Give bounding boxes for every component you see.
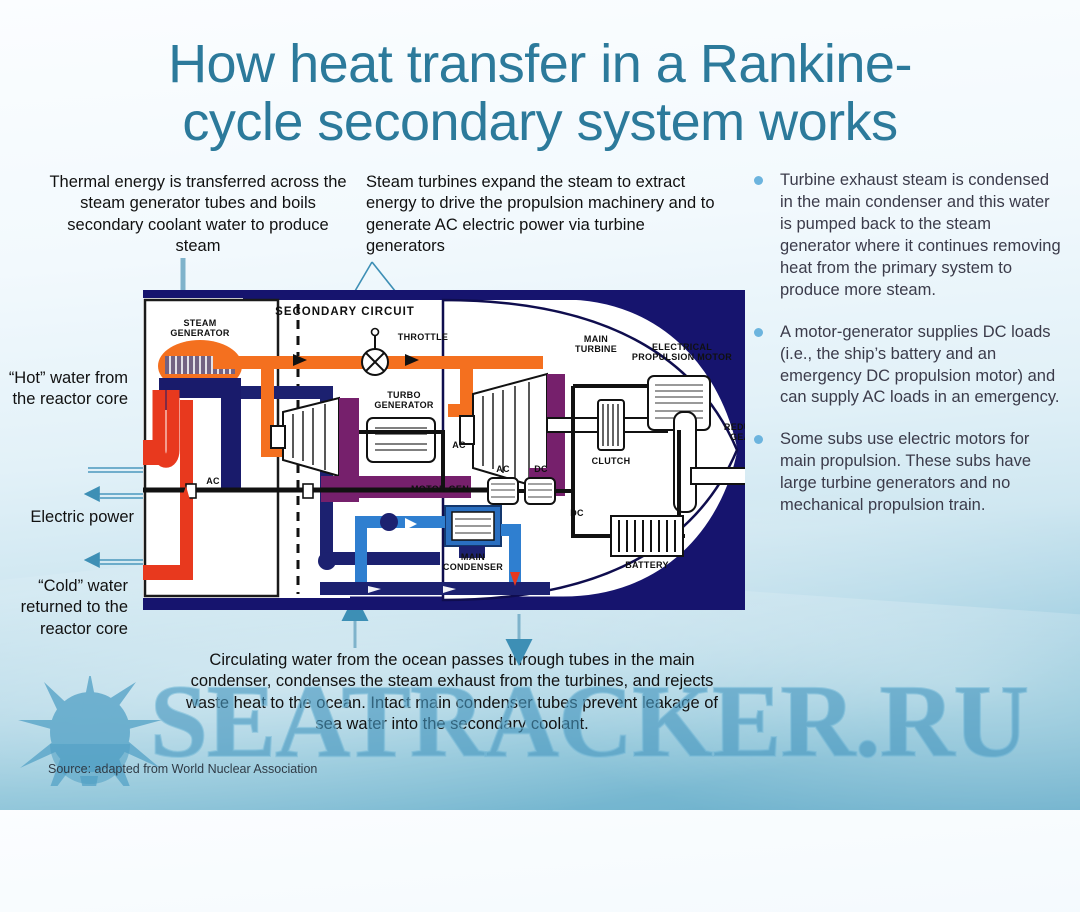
callout-steam-turbines: Steam turbines expand the steam to extra… bbox=[366, 172, 726, 258]
label-electric-power: Electric power bbox=[0, 507, 134, 528]
diagram-label-dc-motorgen: DC bbox=[531, 464, 551, 474]
list-item: Some subs use electric motors for main p… bbox=[746, 429, 1066, 517]
callout-steam-generator: Thermal energy is transferred across the… bbox=[48, 172, 348, 258]
diagram-label-steam-generator: STEAMGENERATOR bbox=[153, 318, 247, 339]
bullet-text: Turbine exhaust steam is condensed in th… bbox=[780, 170, 1066, 302]
bullet-text: Some subs use electric motors for main p… bbox=[780, 429, 1066, 517]
page-title: How heat transfer in a Rankine- cycle se… bbox=[60, 36, 1020, 152]
diagram-label-ac-turbo: AC bbox=[449, 440, 469, 450]
diagram-label-ac-left: AC bbox=[203, 476, 223, 486]
list-item: Turbine exhaust steam is condensed in th… bbox=[746, 170, 1066, 302]
submarine-secondary-circuit-diagram: SECONDARY CIRCUIT STEAMGENERATOR THROTTL… bbox=[143, 290, 745, 610]
page-title-line-1: How heat transfer in a Rankine- bbox=[60, 36, 1020, 94]
diagram-label-clutch: CLUTCH bbox=[583, 456, 639, 466]
bullet-dot-icon bbox=[746, 322, 780, 410]
source-note: Source: adapted from World Nuclear Assoc… bbox=[48, 762, 317, 776]
diagram-label-main-condenser: MAINCONDENSER bbox=[431, 552, 515, 573]
diagram-label-battery: BATTERY bbox=[617, 560, 677, 570]
label-cold-water: “Cold” water returned to the reactor cor… bbox=[0, 576, 128, 640]
diagram-label-reduction-gearing: REDUCTIONGEARING bbox=[707, 422, 745, 443]
diagram-label-turbo-generator: TURBOGENERATOR bbox=[359, 390, 449, 411]
bullet-text: A motor-generator supplies DC loads (i.e… bbox=[780, 322, 1066, 410]
callout-circulating-water: Circulating water from the ocean passes … bbox=[172, 650, 732, 736]
diagram-label-electrical-propulsion-motor: ELECTRICALPROPULSION MOTOR bbox=[623, 342, 741, 363]
diagram-label-ac-motorgen: AC bbox=[493, 464, 513, 474]
diagram-title: SECONDARY CIRCUIT bbox=[255, 306, 435, 319]
diagram-label-motor-gen: MOTOR GEN bbox=[399, 484, 481, 494]
bullet-dot-icon bbox=[746, 429, 780, 517]
diagram-label-main-turbine: MAINTURBINE bbox=[567, 334, 625, 355]
label-hot-water: “Hot” water from the reactor core bbox=[0, 368, 128, 411]
bullet-dot-icon bbox=[746, 170, 780, 302]
diagram-label-throttle: THROTTLE bbox=[391, 332, 455, 342]
page-title-line-2: cycle secondary system works bbox=[60, 94, 1020, 152]
diagram-label-dc-battery: DC bbox=[567, 508, 587, 518]
list-item: A motor-generator supplies DC loads (i.e… bbox=[746, 322, 1066, 410]
bullet-list: Turbine exhaust steam is condensed in th… bbox=[746, 170, 1066, 537]
